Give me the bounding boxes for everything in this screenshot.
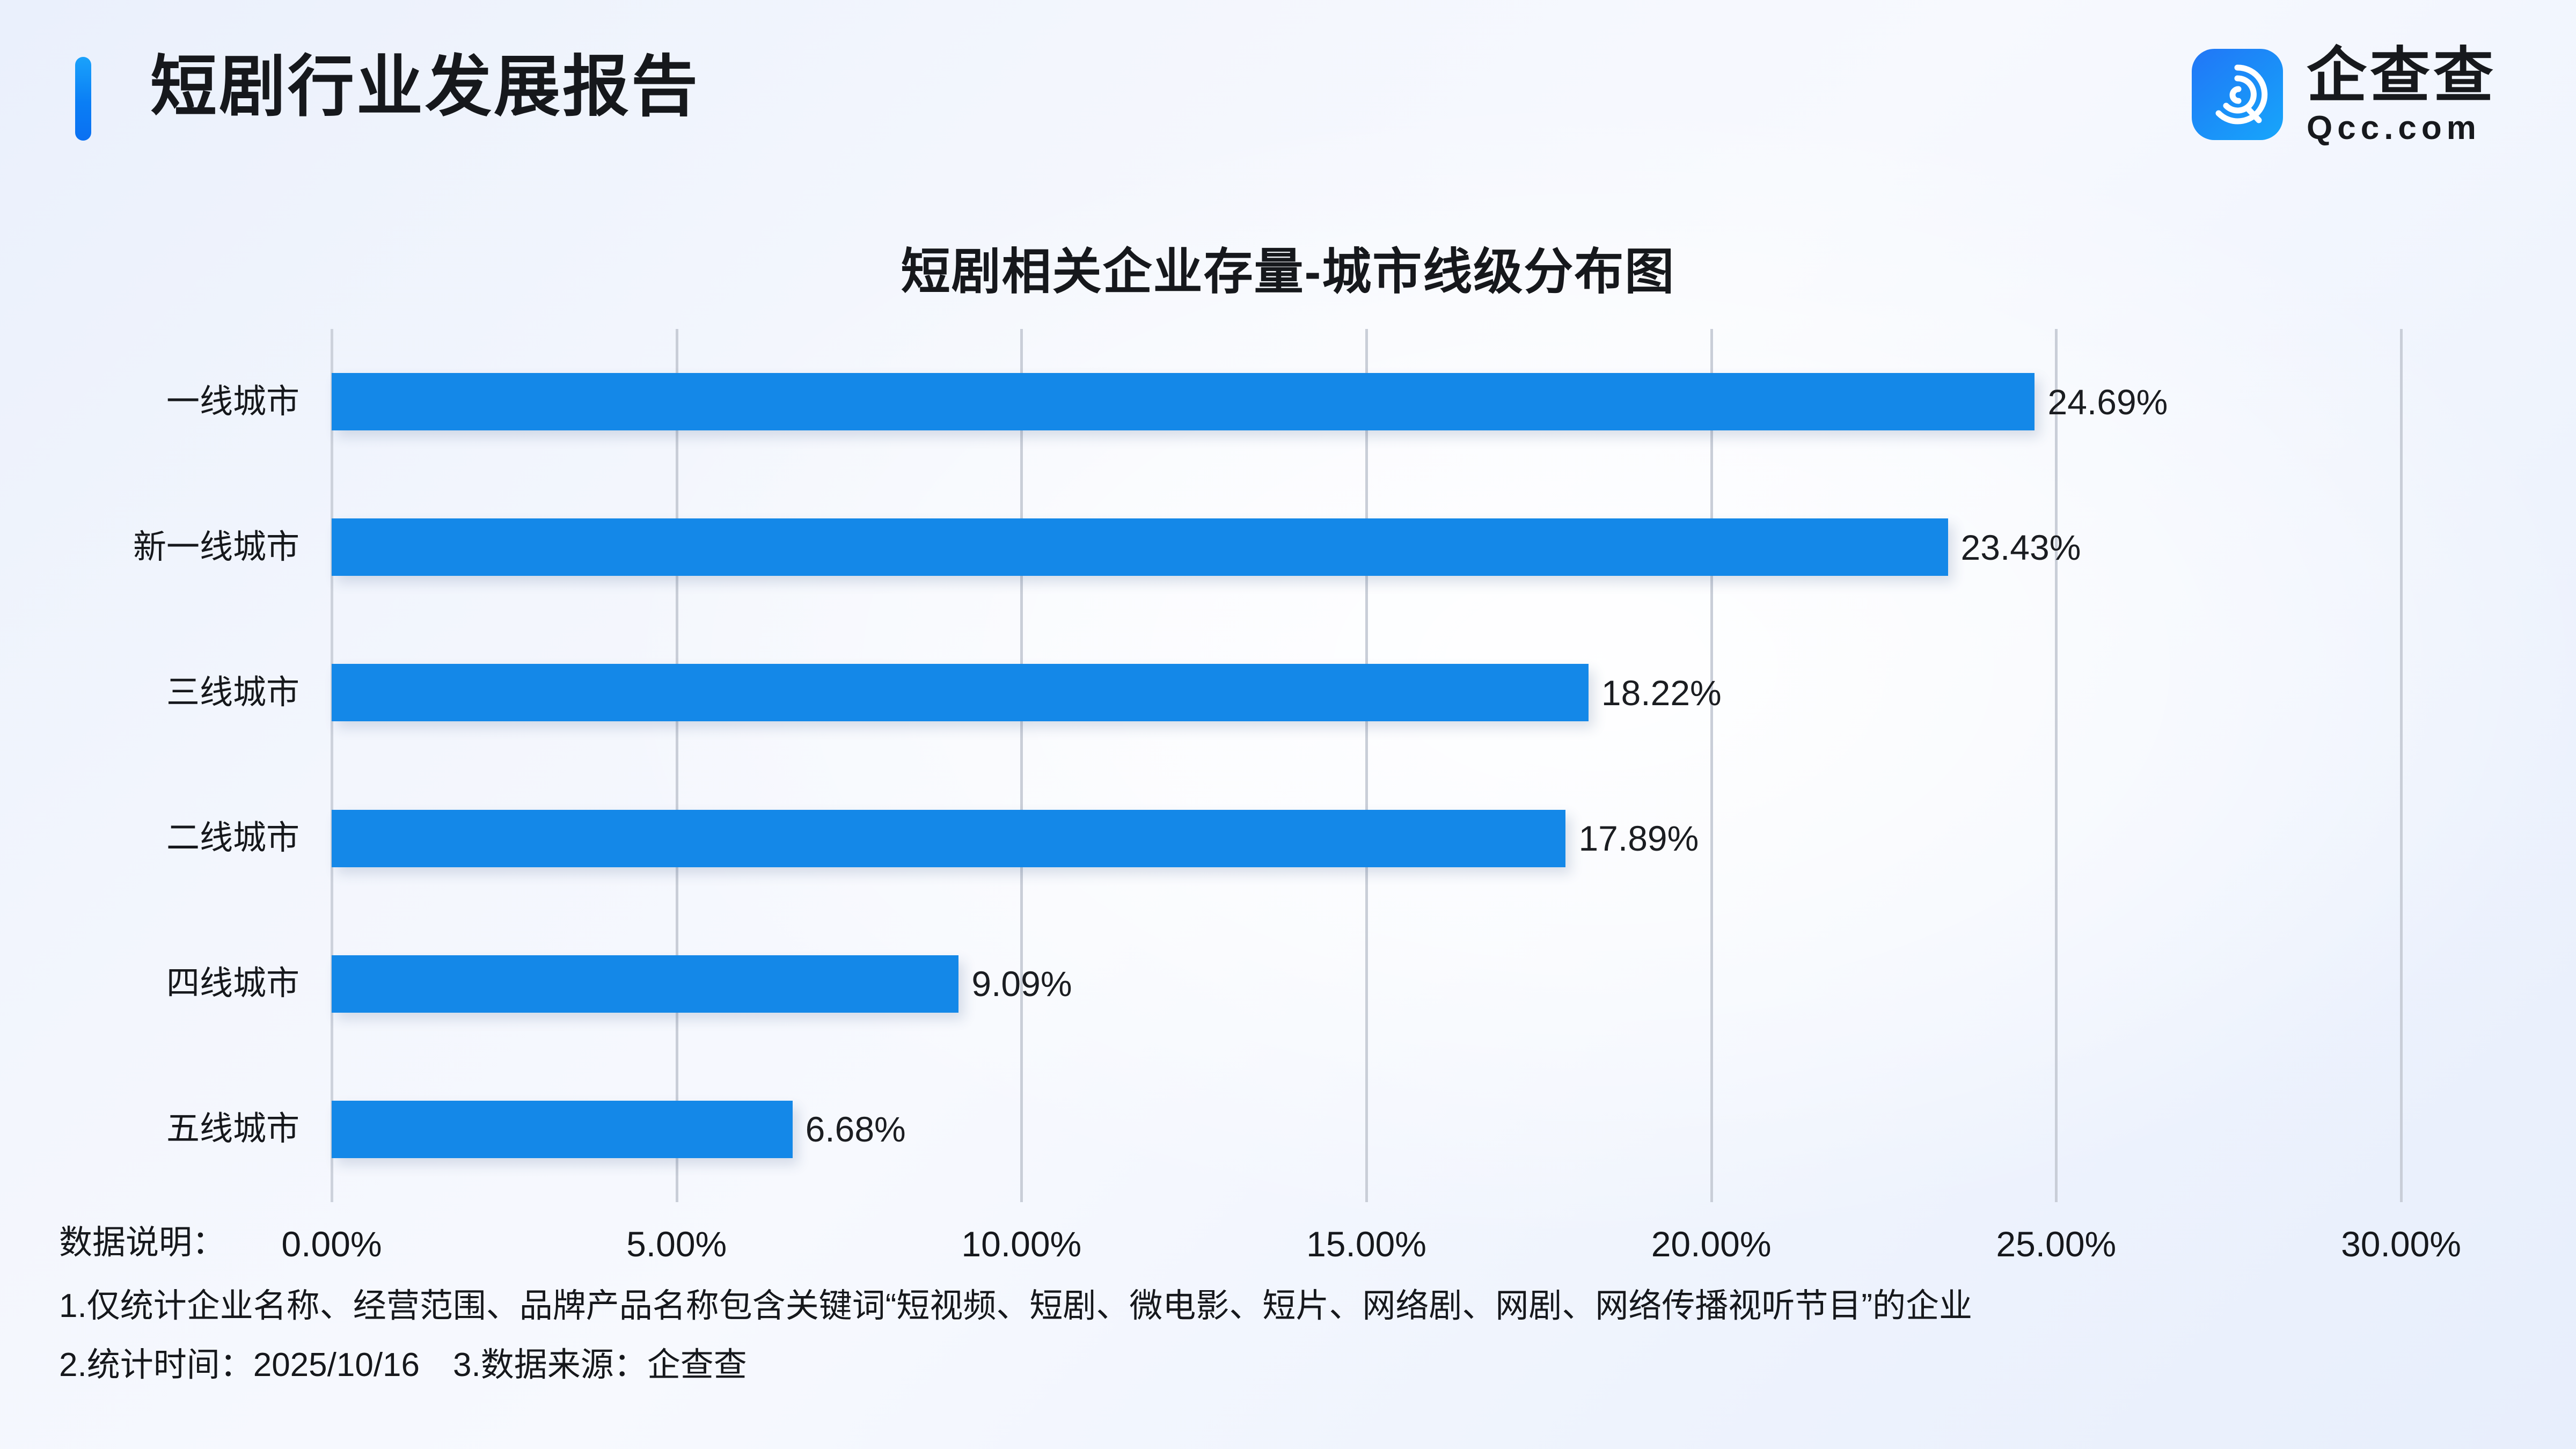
bar-row[interactable]: 四线城市9.09% — [332, 911, 2401, 1057]
bar-value-label: 9.09% — [971, 966, 1072, 1001]
bar[interactable] — [332, 373, 2035, 430]
category-label: 新一线城市 — [31, 531, 299, 564]
x-axis-tick-label: 30.00% — [2341, 1226, 2461, 1262]
qcc-spiral-q-logo-icon — [2192, 49, 2283, 140]
chart-plot-area: 一线城市24.69%新一线城市23.43%三线城市18.22%二线城市17.89… — [332, 329, 2401, 1202]
category-label: 一线城市 — [31, 385, 299, 419]
report-page: 短剧行业发展报告 企查查 Qcc.com 短剧相关企业存量-城市线级分布图 — [0, 0, 2576, 1449]
bar-value-label: 24.69% — [2047, 384, 2168, 420]
brand-name-cn: 企查查 — [2307, 44, 2497, 107]
x-axis-tick-label: 20.00% — [1651, 1226, 1772, 1262]
bar-row[interactable]: 三线城市18.22% — [332, 620, 2401, 765]
page-title: 短剧行业发展报告 — [150, 47, 700, 127]
bar[interactable] — [332, 664, 1589, 721]
data-note-label: 数据说明： — [59, 1226, 225, 1260]
chart-title: 短剧相关企业存量-城市线级分布图 — [0, 232, 2576, 303]
x-axis-tick-label: 25.00% — [1996, 1226, 2116, 1262]
bar-row[interactable]: 新一线城市23.43% — [332, 474, 2401, 620]
bar[interactable] — [332, 955, 958, 1013]
footnote-line: 1.仅统计企业名称、经营范围、品牌产品名称包含关键词“短视频、短剧、微电影、短片… — [59, 1288, 2528, 1324]
bar-value-label: 17.89% — [1578, 821, 1699, 856]
category-label: 四线城市 — [31, 967, 299, 1000]
footnote-line: 2.统计时间：2025/10/16 3.数据来源：企查查 — [59, 1347, 2528, 1384]
x-axis-tick-label: 5.00% — [626, 1226, 727, 1262]
bar-row[interactable]: 一线城市24.69% — [332, 329, 2401, 474]
bar-value-label: 6.68% — [806, 1111, 906, 1147]
bar[interactable] — [332, 810, 1565, 867]
bar-row[interactable]: 五线城市6.68% — [332, 1057, 2401, 1202]
x-axis-tick-label: 15.00% — [1306, 1226, 1426, 1262]
x-axis-tick-label: 0.00% — [281, 1226, 382, 1262]
bar[interactable] — [332, 1101, 793, 1158]
footnotes: 1.仅统计企业名称、经营范围、品牌产品名称包含关键词“短视频、短剧、微电影、短片… — [59, 1288, 2528, 1406]
bar-value-label: 23.43% — [1961, 530, 2081, 565]
category-label: 二线城市 — [31, 822, 299, 855]
bar-value-label: 18.22% — [1601, 675, 1722, 711]
category-label: 五线城市 — [31, 1113, 299, 1146]
brand-wordmark: 企查查 Qcc.com — [2307, 44, 2497, 145]
bar[interactable] — [332, 518, 1948, 576]
page-header: 短剧行业发展报告 企查查 Qcc.com — [0, 0, 2576, 209]
x-axis-tick-label: 10.00% — [961, 1226, 1081, 1262]
title-accent-bar — [75, 57, 91, 141]
brand-name-en: Qcc.com — [2307, 111, 2497, 145]
category-label: 三线城市 — [31, 676, 299, 709]
brand-logo: 企查查 Qcc.com — [2192, 44, 2497, 145]
bar-row[interactable]: 二线城市17.89% — [332, 766, 2401, 911]
